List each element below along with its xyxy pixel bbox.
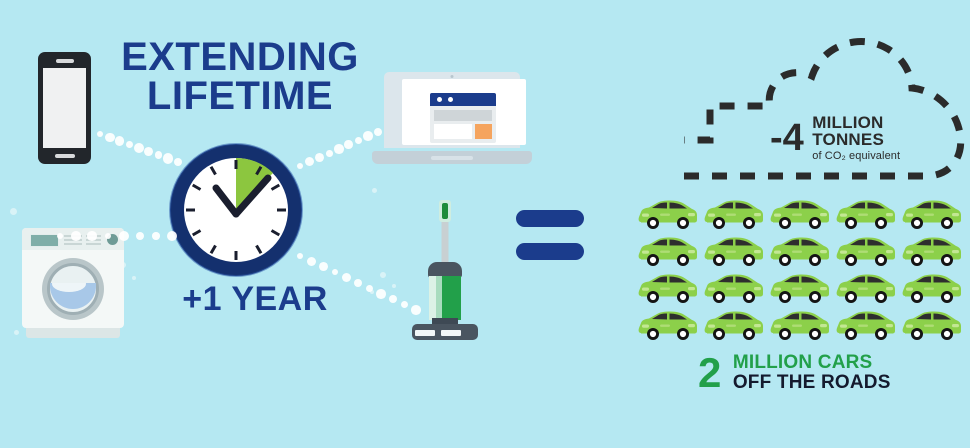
car-svg <box>704 272 764 306</box>
car-icon <box>902 235 962 269</box>
car-icon <box>638 272 698 306</box>
connector-dot <box>71 231 81 241</box>
window-white-block <box>434 124 472 139</box>
car-icon <box>770 198 830 232</box>
connector-dot <box>366 285 373 292</box>
connector-dot <box>163 153 173 163</box>
car-icon <box>704 235 764 269</box>
cloud-stat: -4 MILLION TONNES of CO₂ equivalent <box>770 114 920 162</box>
car-svg <box>902 272 962 306</box>
equals-bar-bottom <box>516 243 584 260</box>
connector-dot <box>319 262 328 271</box>
car-svg <box>836 272 896 306</box>
connector-dot <box>134 143 144 153</box>
connector-dot <box>115 136 124 145</box>
connector-dot <box>307 257 316 266</box>
cars-value: 2 <box>698 352 721 394</box>
car-row <box>638 272 968 306</box>
cloud-svg <box>676 28 966 188</box>
car-icon <box>638 309 698 343</box>
connector-dot <box>354 279 363 288</box>
connector-dot <box>167 231 177 241</box>
car-svg <box>638 235 698 269</box>
connector-dot <box>136 232 145 241</box>
laptop-camera <box>451 75 454 78</box>
equals-bar-top <box>516 210 584 227</box>
car-svg <box>770 235 830 269</box>
connector-dot <box>376 289 386 299</box>
connector-dot <box>144 147 153 156</box>
car-svg <box>704 235 764 269</box>
connector-dot <box>305 157 314 166</box>
car-svg <box>638 309 698 343</box>
laptop-trackpad-notch <box>431 156 473 160</box>
window-title-bar <box>430 93 496 106</box>
clock-svg <box>168 142 304 278</box>
laptop-window <box>430 93 496 143</box>
car-icon <box>638 235 698 269</box>
background-dot <box>380 272 386 278</box>
car-icon <box>704 198 764 232</box>
background-dot <box>10 208 17 215</box>
vacuum-light <box>441 330 461 336</box>
background-dot <box>132 276 136 280</box>
connector-dot <box>126 141 133 148</box>
car-pictogram-grid <box>638 198 968 343</box>
cars-label-line-1: MILLION CARS <box>733 353 891 373</box>
washer-base <box>26 328 120 338</box>
cloud-outline-icon <box>676 28 966 188</box>
washer-display <box>30 234 59 247</box>
infographic-canvas: EXTENDING LIFETIME <box>0 0 970 448</box>
connector-dot <box>87 231 96 240</box>
car-icon <box>836 272 896 306</box>
vacuum-pole <box>442 222 449 266</box>
phone-home-bar <box>55 154 75 158</box>
washing-machine-icon <box>18 228 128 338</box>
connector-dot <box>344 140 353 149</box>
connector-dot <box>119 231 129 241</box>
car-svg <box>902 235 962 269</box>
connector-dot <box>411 305 421 315</box>
cloud-unit: MILLION TONNES of CO₂ equivalent <box>812 114 900 162</box>
washer-foam <box>52 283 86 292</box>
car-svg <box>902 198 962 232</box>
laptop-icon <box>372 72 532 164</box>
car-svg <box>836 309 896 343</box>
connector-dot <box>297 253 303 259</box>
car-row <box>638 309 968 343</box>
laptop-screen <box>402 79 526 145</box>
car-svg <box>836 198 896 232</box>
car-icon <box>638 198 698 232</box>
car-svg <box>836 235 896 269</box>
connector-dot <box>97 131 103 137</box>
vacuum-stripe-mid <box>436 276 442 320</box>
car-svg <box>770 272 830 306</box>
car-icon <box>836 235 896 269</box>
car-svg <box>638 272 698 306</box>
cloud-subtitle: of CO₂ equivalent <box>812 150 900 162</box>
cars-label-text: MILLION CARS OFF THE ROADS <box>733 353 891 393</box>
car-svg <box>704 309 764 343</box>
connector-dot <box>326 150 333 157</box>
cars-label-line-2: OFF THE ROADS <box>733 373 891 393</box>
car-svg <box>902 309 962 343</box>
car-svg <box>770 309 830 343</box>
cloud-unit-line-1: MILLION <box>812 114 900 131</box>
window-gray-block <box>434 110 492 121</box>
equals-sign <box>516 210 584 270</box>
connector-dot <box>334 144 343 153</box>
cars-stat: 2 MILLION CARS OFF THE ROADS <box>698 352 948 394</box>
connector-dot <box>297 163 303 169</box>
car-icon <box>836 198 896 232</box>
connector-dot <box>374 128 382 136</box>
smartphone-icon <box>38 52 91 164</box>
window-dot <box>448 97 453 102</box>
car-svg <box>704 198 764 232</box>
connector-dot <box>315 153 324 162</box>
vacuum-light <box>415 330 435 336</box>
clock-icon <box>168 142 304 278</box>
connector-dot <box>363 131 373 141</box>
connector-dot <box>332 269 339 276</box>
headline-line-2: LIFETIME <box>110 77 370 116</box>
headline-line-1: EXTENDING <box>121 35 359 79</box>
connector-dot <box>355 137 362 144</box>
vacuum-stripe-light <box>429 276 436 320</box>
car-svg <box>770 198 830 232</box>
window-dot <box>437 97 442 102</box>
car-svg <box>638 198 698 232</box>
connector-dot <box>155 151 162 158</box>
cloud-value: -4 <box>770 119 804 157</box>
car-icon <box>770 235 830 269</box>
background-dot <box>372 188 377 193</box>
connector-dot <box>105 133 115 143</box>
background-dot <box>392 284 396 288</box>
phone-screen <box>43 68 86 148</box>
car-row <box>638 198 968 232</box>
washer-panel-line <box>64 243 82 245</box>
vacuum-body <box>429 276 461 320</box>
phone-speaker <box>56 59 74 63</box>
window-orange-block <box>475 124 492 139</box>
cloud-unit-line-2: TONNES <box>812 131 900 148</box>
car-row <box>638 235 968 269</box>
car-icon <box>902 198 962 232</box>
car-icon <box>902 272 962 306</box>
vacuum-handle <box>442 203 448 219</box>
laptop-lid <box>384 72 520 148</box>
vacuum-cleaner-icon <box>405 200 485 340</box>
connector-dot <box>389 295 397 303</box>
page-title: EXTENDING LIFETIME <box>110 38 370 116</box>
car-icon <box>704 272 764 306</box>
car-icon <box>704 309 764 343</box>
car-icon <box>902 309 962 343</box>
connector-dot <box>152 232 159 239</box>
car-icon <box>836 309 896 343</box>
washer-panel-line <box>86 243 101 245</box>
year-label: +1 YEAR <box>150 280 360 319</box>
car-icon <box>770 272 830 306</box>
car-icon <box>770 309 830 343</box>
